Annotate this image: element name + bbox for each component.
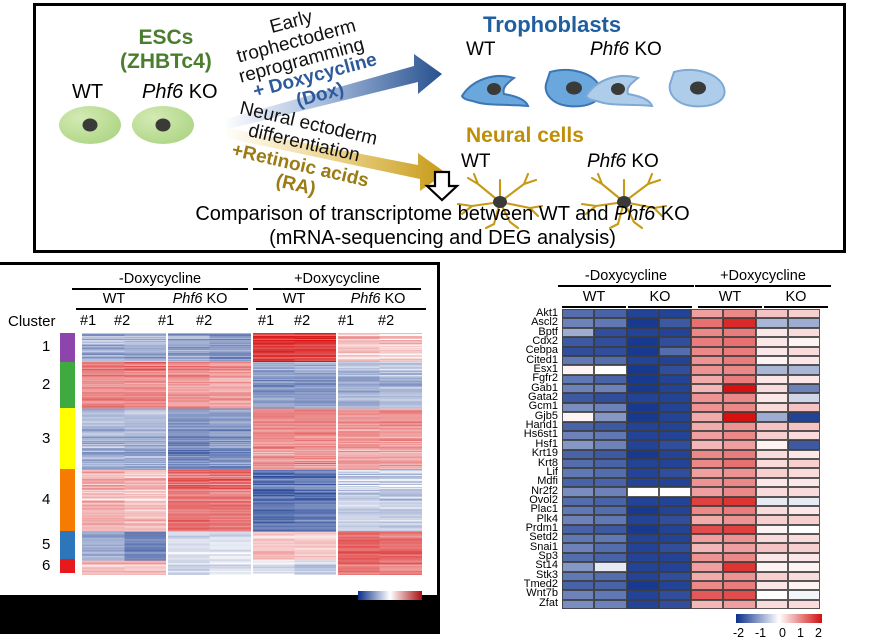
heatmap-cell bbox=[723, 375, 755, 384]
left-hm-replicate-3: #1 bbox=[158, 313, 174, 329]
heatmap-cell bbox=[756, 553, 788, 562]
heatmap-cell bbox=[691, 384, 723, 393]
heatmap-cell bbox=[788, 384, 820, 393]
heatmap-cell bbox=[627, 450, 659, 459]
heatmap-cell bbox=[723, 543, 755, 552]
heatmap-cell bbox=[756, 347, 788, 356]
heatmap-cell bbox=[723, 337, 755, 346]
heatmap-cell bbox=[562, 422, 594, 431]
heatmap-cell bbox=[562, 440, 594, 449]
heatmap-cell bbox=[594, 384, 626, 393]
heatmap-cell bbox=[562, 497, 594, 506]
heatmap-cell bbox=[756, 356, 788, 365]
heatmap-cell bbox=[659, 403, 691, 412]
cluster-label-6: 6 bbox=[42, 557, 50, 574]
heatmap-cell bbox=[562, 553, 594, 562]
heatmap-cell bbox=[723, 487, 755, 496]
gene-label-zfat: Zfat bbox=[450, 599, 558, 608]
heatmap-cell bbox=[691, 309, 723, 318]
heatmap-cell bbox=[691, 356, 723, 365]
heatmap-cell bbox=[756, 600, 788, 609]
right-hm-plus-dox-header: +Doxycycline bbox=[695, 268, 831, 287]
heatmap-cell bbox=[659, 440, 691, 449]
left-colorbar bbox=[358, 591, 422, 600]
heatmap-cell bbox=[659, 365, 691, 374]
heatmap-cell bbox=[691, 412, 723, 421]
heatmap-cell bbox=[756, 543, 788, 552]
heatmap-cell bbox=[594, 478, 626, 487]
global-heatmap-panel: -Doxycycline +Doxycycline WT Phf6 KO WT … bbox=[0, 262, 440, 634]
heatmap-cell bbox=[594, 356, 626, 365]
heatmap-cell bbox=[594, 581, 626, 590]
heatmap-cell bbox=[562, 318, 594, 327]
right-hm-ko-minus-header: KO bbox=[628, 289, 692, 308]
esc-wt-label: WT bbox=[72, 81, 103, 104]
heatmap-cell bbox=[594, 393, 626, 402]
heatmap-cell bbox=[756, 487, 788, 496]
heatmap-cell bbox=[627, 309, 659, 318]
gene-label-krt8: Krt8 bbox=[450, 459, 558, 468]
cluster-label-4: 4 bbox=[42, 491, 50, 508]
heatmap-cell bbox=[562, 506, 594, 515]
heatmap-cell bbox=[788, 328, 820, 337]
heatmap-cell bbox=[723, 562, 755, 571]
heatmap-cell bbox=[627, 506, 659, 515]
esc-cell-ko-icon bbox=[132, 106, 194, 144]
heatmap-cell bbox=[562, 384, 594, 393]
heatmap-cell bbox=[594, 450, 626, 459]
heatmap-cell bbox=[594, 525, 626, 534]
heatmap-cell bbox=[562, 478, 594, 487]
heatmap-cell bbox=[659, 384, 691, 393]
heatmap-cell bbox=[788, 318, 820, 327]
heatmap-cell bbox=[627, 337, 659, 346]
global-heatmap-canvas bbox=[82, 333, 422, 583]
esc-cell-wt-icon bbox=[59, 106, 121, 144]
heatmap-cell bbox=[627, 478, 659, 487]
heatmap-cell bbox=[627, 497, 659, 506]
heatmap-cell bbox=[594, 459, 626, 468]
heatmap-cell bbox=[723, 600, 755, 609]
heatmap-cell bbox=[659, 525, 691, 534]
heatmap-cell bbox=[627, 534, 659, 543]
down-arrow-icon bbox=[422, 170, 462, 202]
heatmap-cell bbox=[627, 347, 659, 356]
heatmap-cell bbox=[659, 309, 691, 318]
left-hm-replicate-5: #1 bbox=[258, 313, 274, 329]
heatmap-cell bbox=[562, 337, 594, 346]
heatmap-cell bbox=[659, 318, 691, 327]
heatmap-cell bbox=[723, 450, 755, 459]
heatmap-cell bbox=[627, 515, 659, 524]
trophoblast-heatmap-grid bbox=[562, 309, 820, 609]
right-colorbar-tick-2: 0 bbox=[779, 626, 786, 640]
heatmap-cell bbox=[788, 515, 820, 524]
heatmap-cell bbox=[691, 393, 723, 402]
heatmap-cell bbox=[594, 375, 626, 384]
heatmap-cell bbox=[691, 590, 723, 599]
heatmap-cell bbox=[659, 562, 691, 571]
cluster-color-bar bbox=[60, 333, 75, 583]
heatmap-cell bbox=[691, 553, 723, 562]
heatmap-cell bbox=[691, 431, 723, 440]
heatmap-cell bbox=[788, 600, 820, 609]
heatmap-cell bbox=[788, 497, 820, 506]
heatmap-cell bbox=[562, 543, 594, 552]
heatmap-cell bbox=[627, 487, 659, 496]
heatmap-cell bbox=[562, 590, 594, 599]
heatmap-cell bbox=[723, 515, 755, 524]
heatmap-cell bbox=[723, 365, 755, 374]
heatmap-cell bbox=[756, 581, 788, 590]
heatmap-cell bbox=[691, 572, 723, 581]
heatmap-cell bbox=[788, 356, 820, 365]
heatmap-cell bbox=[788, 347, 820, 356]
heatmap-cell bbox=[756, 403, 788, 412]
heatmap-cell bbox=[659, 468, 691, 477]
heatmap-cell bbox=[756, 590, 788, 599]
heatmap-cell bbox=[788, 553, 820, 562]
heatmap-cell bbox=[691, 543, 723, 552]
heatmap-cell bbox=[562, 572, 594, 581]
heatmap-cell bbox=[562, 459, 594, 468]
heatmap-cell bbox=[594, 468, 626, 477]
heatmap-cell bbox=[756, 525, 788, 534]
heatmap-cell bbox=[691, 515, 723, 524]
heatmap-cell bbox=[723, 525, 755, 534]
heatmap-cell bbox=[594, 412, 626, 421]
heatmap-cell bbox=[756, 365, 788, 374]
heatmap-cell bbox=[594, 422, 626, 431]
heatmap-cell bbox=[691, 328, 723, 337]
heatmap-cell bbox=[756, 422, 788, 431]
heatmap-cell bbox=[562, 375, 594, 384]
heatmap-cell bbox=[659, 459, 691, 468]
right-colorbar-tick-4: 2 bbox=[815, 626, 822, 640]
heatmap-cell bbox=[627, 328, 659, 337]
heatmap-cell bbox=[723, 422, 755, 431]
heatmap-cell bbox=[659, 581, 691, 590]
heatmap-cell bbox=[627, 393, 659, 402]
cluster-segment-1 bbox=[60, 333, 75, 362]
heatmap-cell bbox=[756, 412, 788, 421]
heatmap-cell bbox=[627, 525, 659, 534]
heatmap-cell bbox=[594, 572, 626, 581]
heatmap-cell bbox=[627, 422, 659, 431]
heatmap-cell bbox=[756, 572, 788, 581]
heatmap-cell bbox=[756, 459, 788, 468]
heatmap-cell bbox=[659, 347, 691, 356]
left-colorbar-tick-1: 0 bbox=[382, 603, 389, 617]
heatmap-cell bbox=[562, 365, 594, 374]
gene-label-list: Akt1Ascl2BptfCdx2CebpaCited1Esx1Fgfr2Gab… bbox=[450, 309, 558, 608]
heatmap-cell bbox=[659, 328, 691, 337]
heatmap-cell bbox=[788, 487, 820, 496]
left-hm-replicate-7: #1 bbox=[338, 313, 354, 329]
heatmap-cell bbox=[756, 497, 788, 506]
heatmap-cell bbox=[691, 403, 723, 412]
heatmap-cell bbox=[788, 309, 820, 318]
heatmap-cell bbox=[788, 403, 820, 412]
heatmap-cell bbox=[627, 562, 659, 571]
heatmap-cell bbox=[562, 487, 594, 496]
heatmap-cell bbox=[562, 600, 594, 609]
heatmap-cell bbox=[788, 525, 820, 534]
heatmap-cell bbox=[659, 412, 691, 421]
experimental-schematic: ESCs (ZHBTc4) WT Phf6 KO Early trophecto… bbox=[33, 3, 846, 253]
heatmap-cell bbox=[756, 468, 788, 477]
heatmap-cell bbox=[659, 543, 691, 552]
heatmap-cell bbox=[723, 468, 755, 477]
trophoblast-gene-heatmap-panel: -Doxycycline +Doxycycline WT KO WT KO Ak… bbox=[440, 262, 880, 634]
heatmap-cell bbox=[691, 468, 723, 477]
heatmap-cell bbox=[594, 600, 626, 609]
trophoblast-wt-label: WT bbox=[466, 39, 496, 61]
heatmap-cell bbox=[562, 356, 594, 365]
heatmap-cell bbox=[594, 347, 626, 356]
heatmap-cell bbox=[562, 393, 594, 402]
left-hm-ko-minus-header: Phf6 KO bbox=[152, 291, 248, 310]
heatmap-cell bbox=[562, 515, 594, 524]
heatmap-cell bbox=[756, 393, 788, 402]
heatmap-cell bbox=[659, 450, 691, 459]
trophoblast-ko-label: Phf6 KO bbox=[590, 39, 662, 61]
cluster-axis-label: Cluster bbox=[8, 313, 56, 330]
heatmap-cell bbox=[691, 318, 723, 327]
heatmap-cell bbox=[788, 506, 820, 515]
heatmap-cell bbox=[691, 487, 723, 496]
heatmap-cell bbox=[691, 562, 723, 571]
heatmap-cell bbox=[788, 572, 820, 581]
left-hm-replicate-2: #2 bbox=[114, 313, 130, 329]
heatmap-cell bbox=[562, 581, 594, 590]
heatmap-cell bbox=[627, 318, 659, 327]
heatmap-cell bbox=[788, 375, 820, 384]
heatmap-cell bbox=[659, 572, 691, 581]
heatmap-cell bbox=[723, 318, 755, 327]
heatmap-cell bbox=[756, 309, 788, 318]
heatmap-cell bbox=[756, 440, 788, 449]
heatmap-cell bbox=[562, 562, 594, 571]
heatmap-cell bbox=[627, 384, 659, 393]
heatmap-cell bbox=[594, 318, 626, 327]
heatmap-cell bbox=[691, 534, 723, 543]
heatmap-cell bbox=[723, 393, 755, 402]
heatmap-cell bbox=[594, 506, 626, 515]
left-hm-wt-minus-header: WT bbox=[76, 291, 152, 310]
heatmap-cell bbox=[627, 600, 659, 609]
heatmap-cell bbox=[788, 468, 820, 477]
cluster-segment-3 bbox=[60, 408, 75, 469]
heatmap-cell bbox=[723, 356, 755, 365]
heatmap-cell bbox=[659, 515, 691, 524]
heatmap-cell bbox=[562, 468, 594, 477]
cluster-segment-2 bbox=[60, 362, 75, 408]
heatmap-cell bbox=[562, 309, 594, 318]
heatmap-cell bbox=[691, 365, 723, 374]
heatmap-cell bbox=[562, 534, 594, 543]
figure-caption: Comparison of transcriptome between WT a… bbox=[36, 202, 849, 251]
heatmap-cell bbox=[594, 309, 626, 318]
heatmap-cell bbox=[756, 337, 788, 346]
heatmap-cell bbox=[756, 534, 788, 543]
heatmap-cell bbox=[756, 384, 788, 393]
left-hm-wt-plus-header: WT bbox=[256, 291, 332, 310]
trophoblasts-title: Trophoblasts bbox=[483, 12, 621, 38]
heatmap-cell bbox=[788, 459, 820, 468]
heatmap-cell bbox=[723, 440, 755, 449]
right-hm-ko-plus-header: KO bbox=[764, 289, 828, 308]
heatmap-cell bbox=[627, 543, 659, 552]
heatmap-cell bbox=[594, 431, 626, 440]
heatmap-cell bbox=[723, 403, 755, 412]
cluster-label-2: 2 bbox=[42, 376, 50, 393]
heatmap-cell bbox=[594, 590, 626, 599]
trophoblast-cells-ko-icon bbox=[578, 62, 778, 110]
heatmap-cell bbox=[723, 309, 755, 318]
heatmap-cell bbox=[562, 328, 594, 337]
heatmap-cell bbox=[788, 337, 820, 346]
heatmap-cell bbox=[659, 487, 691, 496]
heatmap-cell bbox=[788, 543, 820, 552]
heatmap-cell bbox=[756, 562, 788, 571]
heatmap-cell bbox=[691, 600, 723, 609]
heatmap-cell bbox=[562, 431, 594, 440]
heatmap-cell bbox=[723, 534, 755, 543]
heatmap-cell bbox=[788, 581, 820, 590]
right-hm-minus-dox-header: -Doxycycline bbox=[558, 268, 694, 287]
heatmap-cell bbox=[691, 497, 723, 506]
heatmap-cell bbox=[627, 403, 659, 412]
left-hm-ko-plus-header: Phf6 KO bbox=[330, 291, 426, 310]
heatmap-cell bbox=[594, 487, 626, 496]
left-hm-plus-dox-header: +Doxycycline bbox=[253, 271, 421, 290]
left-hm-replicate-8: #2 bbox=[378, 313, 394, 329]
left-hm-replicate-4: #2 bbox=[196, 313, 212, 329]
heatmap-cell bbox=[723, 478, 755, 487]
right-colorbar bbox=[736, 614, 822, 623]
neural-cells-title: Neural cells bbox=[466, 124, 584, 148]
heatmap-cell bbox=[659, 393, 691, 402]
heatmap-cell bbox=[788, 450, 820, 459]
heatmap-cell bbox=[627, 581, 659, 590]
right-colorbar-tick-0: -2 bbox=[733, 626, 744, 640]
heatmap-cell bbox=[659, 478, 691, 487]
heatmap-cell bbox=[756, 478, 788, 487]
cluster-segment-6 bbox=[60, 559, 75, 573]
heatmap-cell bbox=[594, 337, 626, 346]
heatmap-cell bbox=[627, 459, 659, 468]
heatmap-cell bbox=[691, 347, 723, 356]
heatmap-cell bbox=[594, 440, 626, 449]
heatmap-cell bbox=[756, 506, 788, 515]
heatmap-cell bbox=[659, 553, 691, 562]
neural-ko-label: Phf6 KO bbox=[587, 151, 659, 173]
heatmap-cell bbox=[627, 572, 659, 581]
right-colorbar-tick-3: 1 bbox=[797, 626, 804, 640]
heatmap-cell bbox=[594, 403, 626, 412]
heatmap-cell bbox=[756, 318, 788, 327]
heatmap-cell bbox=[788, 562, 820, 571]
heatmap-cell bbox=[723, 384, 755, 393]
heatmap-cell bbox=[691, 478, 723, 487]
heatmap-cell bbox=[723, 431, 755, 440]
heatmap-cell bbox=[756, 375, 788, 384]
heatmap-cell bbox=[659, 590, 691, 599]
heatmap-cell bbox=[659, 422, 691, 431]
heatmap-cell bbox=[788, 422, 820, 431]
heatmap-cell bbox=[788, 534, 820, 543]
esc-title: ESCs (ZHBTc4) bbox=[120, 26, 212, 73]
heatmap-cell bbox=[756, 450, 788, 459]
heatmap-cell bbox=[627, 440, 659, 449]
heatmap-cell bbox=[627, 375, 659, 384]
heatmap-cell bbox=[562, 525, 594, 534]
heatmap-cell bbox=[627, 553, 659, 562]
heatmap-cell bbox=[723, 412, 755, 421]
heatmap-cell bbox=[627, 412, 659, 421]
heatmap-cell bbox=[627, 431, 659, 440]
heatmap-cell bbox=[691, 337, 723, 346]
heatmap-cell bbox=[562, 403, 594, 412]
heatmap-cell bbox=[659, 356, 691, 365]
heatmap-cell bbox=[691, 375, 723, 384]
heatmap-cell bbox=[788, 393, 820, 402]
heatmap-cell bbox=[723, 328, 755, 337]
heatmap-cell bbox=[756, 328, 788, 337]
esc-ko-label: Phf6 KO bbox=[142, 81, 218, 104]
heatmap-cell bbox=[594, 562, 626, 571]
heatmap-cell bbox=[788, 365, 820, 374]
heatmap-cell bbox=[723, 459, 755, 468]
heatmap-cell bbox=[691, 450, 723, 459]
heatmap-cell bbox=[723, 572, 755, 581]
heatmap-cell bbox=[627, 468, 659, 477]
heatmap-cell bbox=[562, 450, 594, 459]
heatmap-cell bbox=[788, 412, 820, 421]
left-hm-replicate-1: #1 bbox=[80, 313, 96, 329]
left-colorbar-tick-0: -2 bbox=[356, 603, 367, 617]
cluster-label-5: 5 bbox=[42, 536, 50, 553]
heatmap-cell bbox=[691, 459, 723, 468]
heatmap-cell bbox=[562, 347, 594, 356]
heatmap-cell bbox=[627, 365, 659, 374]
heatmap-cell bbox=[788, 440, 820, 449]
right-colorbar-tick-1: -1 bbox=[755, 626, 766, 640]
left-colorbar-tick-2: 2 bbox=[408, 603, 415, 617]
heatmap-cell bbox=[594, 553, 626, 562]
left-hm-minus-dox-header: -Doxycycline bbox=[72, 271, 248, 290]
heatmap-cell bbox=[788, 431, 820, 440]
heatmap-cell bbox=[691, 581, 723, 590]
heatmap-cell bbox=[788, 590, 820, 599]
heatmap-cell bbox=[691, 422, 723, 431]
heatmap-cell bbox=[594, 365, 626, 374]
heatmap-cell bbox=[594, 534, 626, 543]
right-hm-wt-plus-header: WT bbox=[698, 289, 762, 308]
cluster-label-3: 3 bbox=[42, 430, 50, 447]
heatmap-cell bbox=[594, 497, 626, 506]
heatmap-cell bbox=[659, 497, 691, 506]
heatmap-cell bbox=[691, 525, 723, 534]
heatmap-cell bbox=[723, 497, 755, 506]
heatmap-cell bbox=[723, 553, 755, 562]
heatmap-cell bbox=[659, 534, 691, 543]
heatmap-cell bbox=[691, 440, 723, 449]
neural-wt-label: WT bbox=[461, 151, 491, 173]
cluster-segment-5 bbox=[60, 531, 75, 560]
heatmap-cell bbox=[659, 431, 691, 440]
